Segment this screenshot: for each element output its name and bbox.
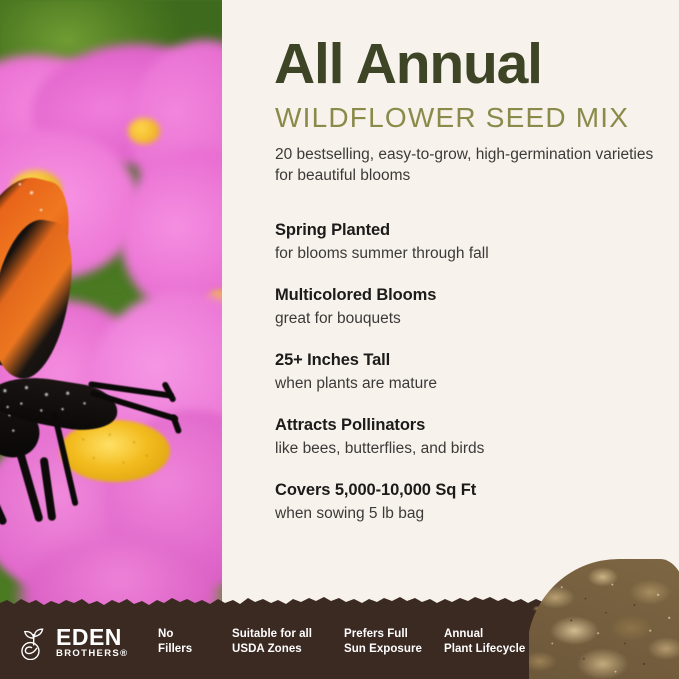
feature-subtitle: great for bouquets xyxy=(275,308,670,329)
brand-name: EDEN xyxy=(56,627,128,647)
status-badge: No Fillers xyxy=(158,627,232,657)
feature-title: Attracts Pollinators xyxy=(275,415,670,436)
seed-pile-texture xyxy=(529,559,679,679)
footer-bar: EDEN BROTHERS® No Fillers Suitable for a… xyxy=(0,605,679,679)
badge-line-2: Fillers xyxy=(158,642,232,657)
page-description: 20 bestselling, easy-to-grow, high-germi… xyxy=(275,144,665,186)
feature-item: Attracts Pollinators like bees, butterfl… xyxy=(275,415,670,459)
sprout-seedling-icon xyxy=(18,626,51,660)
feature-item: 25+ Inches Tall when plants are mature xyxy=(275,350,670,394)
feature-item: Spring Planted for blooms summer through… xyxy=(275,220,670,264)
feature-subtitle: like bees, butterflies, and birds xyxy=(275,438,670,459)
badge-line-1: Suitable for all xyxy=(232,627,344,642)
feature-subtitle: when plants are mature xyxy=(275,373,670,394)
product-photo xyxy=(0,0,222,679)
status-badge: Prefers Full Sun Exposure xyxy=(344,627,444,657)
badge-line-2: Sun Exposure xyxy=(344,642,444,657)
feature-item: Covers 5,000-10,000 Sq Ft when sowing 5 … xyxy=(275,480,670,524)
page-title: All Annual xyxy=(274,34,674,94)
feature-title: Covers 5,000-10,000 Sq Ft xyxy=(275,480,670,501)
brand-logo[interactable]: EDEN BROTHERS® xyxy=(18,625,130,661)
badge-line-1: No xyxy=(158,627,232,642)
status-badge: Suitable for all USDA Zones xyxy=(232,627,344,657)
feature-item: Multicolored Blooms great for bouquets xyxy=(275,285,670,329)
butterfly xyxy=(0,175,200,415)
feature-list: Spring Planted for blooms summer through… xyxy=(275,220,670,545)
brand-wordmark: EDEN BROTHERS® xyxy=(56,627,128,660)
feature-subtitle: for blooms summer through fall xyxy=(275,243,670,264)
seed-pile-image xyxy=(529,557,679,679)
page-subtitle: WILDFLOWER SEED MIX xyxy=(275,102,675,134)
feature-title: Spring Planted xyxy=(275,220,670,241)
footer-badges: No Fillers Suitable for all USDA Zones P… xyxy=(158,627,564,657)
product-infographic: All Annual WILDFLOWER SEED MIX 20 bestse… xyxy=(0,0,679,679)
badge-line-2: USDA Zones xyxy=(232,642,344,657)
feature-subtitle: when sowing 5 lb bag xyxy=(275,503,670,524)
butterfly-wing-spots xyxy=(0,172,86,370)
badge-line-1: Prefers Full xyxy=(344,627,444,642)
feature-title: Multicolored Blooms xyxy=(275,285,670,306)
brand-subname: BROTHERS® xyxy=(56,648,128,660)
feature-title: 25+ Inches Tall xyxy=(275,350,670,371)
flower-pollen-texture xyxy=(62,422,168,480)
flower-center xyxy=(128,118,160,144)
